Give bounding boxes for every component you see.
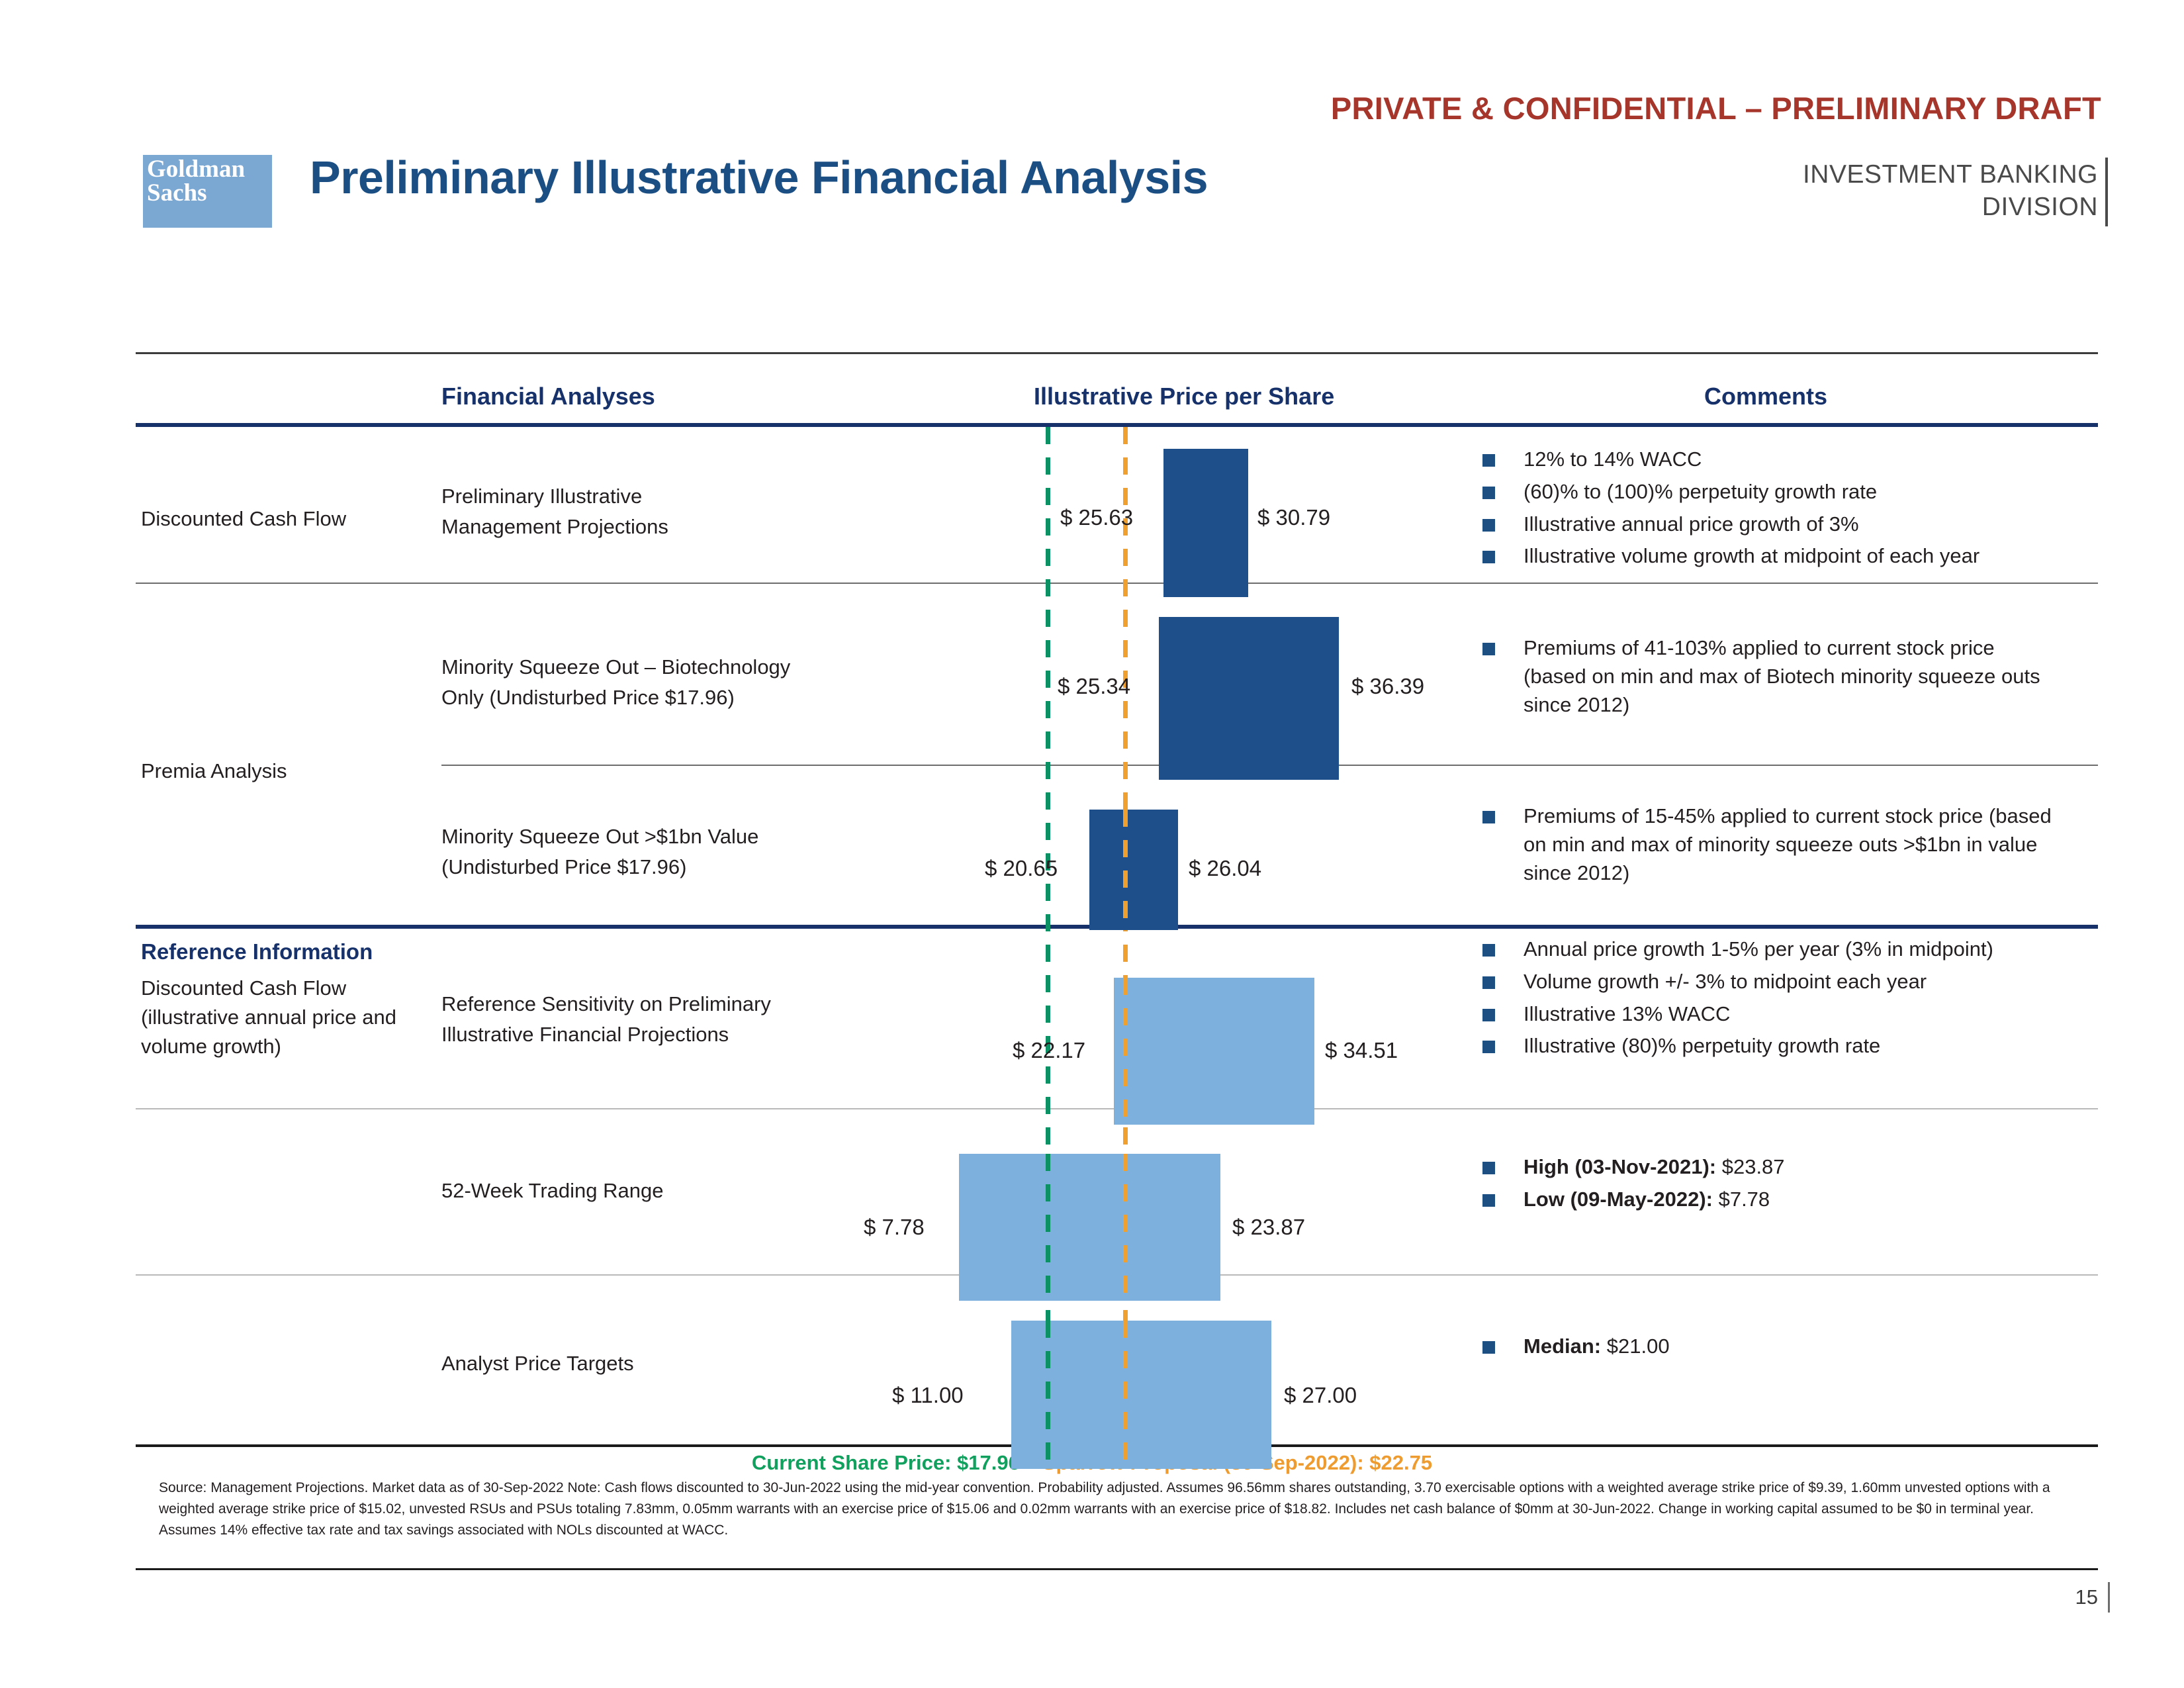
comment-item: 12% to 14% WACC [1482, 445, 2085, 474]
bullet-square-icon [1482, 1162, 1495, 1174]
value-high-row-2: $ 26.04 [1189, 856, 1261, 881]
division-label: INVESTMENT BANKING DIVISION [1803, 159, 2098, 224]
comment-text: (60)% to (100)% perpetuity growth rate [1524, 480, 1877, 503]
comment-item: Median: $21.00 [1482, 1333, 2071, 1361]
goldman-sachs-logo: Goldman Sachs [143, 155, 272, 228]
comment-label: Median: [1524, 1335, 1601, 1358]
comment-label: Low (09-May-2022): [1524, 1188, 1713, 1211]
column-header-financial-analyses: Financial Analyses [441, 383, 655, 410]
page-title: Preliminary Illustrative Financial Analy… [310, 151, 1208, 204]
comment-value: $7.78 [1713, 1188, 1770, 1211]
column-header-illustrative-price: Illustrative Price per Share [1034, 383, 1334, 410]
bullet-square-icon [1482, 643, 1495, 655]
bullet-square-icon [1482, 1194, 1495, 1207]
current-price-line-overlay-row-4 [1046, 1154, 1050, 1299]
bullet-square-icon [1482, 1009, 1495, 1021]
comment-text: Volume growth +/- 3% to midpoint each ye… [1524, 970, 1927, 993]
proposal-line-overlay-row-3 [1123, 978, 1128, 1123]
comment-text: Annual price growth 1-5% per year (3% in… [1524, 937, 1993, 961]
value-low-row-0: $ 25.63 [1060, 505, 1133, 530]
page-number: 15 [2075, 1585, 2098, 1609]
value-low-row-4: $ 7.78 [864, 1215, 925, 1240]
value-high-row-3: $ 34.51 [1325, 1038, 1398, 1063]
comment-item: Volume growth +/- 3% to midpoint each ye… [1482, 968, 2058, 996]
comment-item: Annual price growth 1-5% per year (3% in… [1482, 935, 2058, 964]
division-rule [2105, 158, 2108, 226]
comment-item: Illustrative annual price growth of 3% [1482, 510, 2085, 539]
comments-row-2: Premiums of 15-45% applied to current st… [1482, 802, 2071, 891]
proposal-line-overlay-row-5 [1123, 1321, 1128, 1468]
current-price-line-overlay-row-5 [1046, 1321, 1050, 1468]
bar-row-0 [1163, 449, 1248, 597]
logo-line-1: Goldman [147, 156, 245, 183]
comments-row-1: Premiums of 41-103% applied to current s… [1482, 634, 2042, 723]
bullet-square-icon [1482, 811, 1495, 823]
comments-row-4: High (03-Nov-2021): $23.87 Low (09-May-2… [1482, 1153, 2071, 1218]
comment-item: Illustrative (80)% perpetuity growth rat… [1482, 1032, 2058, 1060]
bullet-square-icon [1482, 551, 1495, 563]
comments-row-5: Median: $21.00 [1482, 1333, 2071, 1365]
proposal-line-overlay-row-2 [1123, 810, 1128, 929]
logo-line-2: Sachs [147, 181, 272, 205]
source-footnote: Source: Management Projections. Market d… [159, 1477, 2071, 1541]
comments-row-3: Annual price growth 1-5% per year (3% in… [1482, 935, 2058, 1064]
comment-label: High (03-Nov-2021): [1524, 1155, 1716, 1178]
comment-item: Low (09-May-2022): $7.78 [1482, 1186, 2071, 1214]
comment-text: Illustrative volume growth at midpoint o… [1524, 544, 1979, 567]
comment-text: 12% to 14% WACC [1524, 447, 1702, 471]
bullet-square-icon [1482, 454, 1495, 467]
slide: PRIVATE & CONFIDENTIAL – PRELIMINARY DRA… [0, 0, 2184, 1688]
comments-row-0: 12% to 14% WACC (60)% to (100)% perpetui… [1482, 445, 2085, 575]
division-line-2: DIVISION [1803, 191, 2098, 224]
bullet-square-icon [1482, 944, 1495, 957]
comment-text: Illustrative (80)% perpetuity growth rat… [1524, 1034, 1880, 1057]
bullet-square-icon [1482, 976, 1495, 989]
comment-text: Premiums of 41-103% applied to current s… [1524, 636, 2040, 716]
footer-rule [136, 1568, 2098, 1570]
bar-row-2 [1089, 810, 1178, 930]
comment-item: Illustrative volume growth at midpoint o… [1482, 542, 2085, 571]
comment-item: Illustrative 13% WACC [1482, 1000, 2058, 1029]
comment-item: Premiums of 41-103% applied to current s… [1482, 634, 2042, 719]
value-low-row-1: $ 25.34 [1058, 674, 1130, 699]
comment-value: $21.00 [1601, 1335, 1669, 1358]
value-high-row-4: $ 23.87 [1232, 1215, 1305, 1240]
legend-current-share-price: Current Share Price: $17.96 [752, 1451, 1020, 1474]
comment-text: Premiums of 15-45% applied to current st… [1524, 804, 2052, 884]
column-header-comments: Comments [1704, 383, 1827, 410]
value-high-row-1: $ 36.39 [1351, 674, 1424, 699]
division-line-1: INVESTMENT BANKING [1803, 159, 2098, 191]
bar-row-1 [1159, 617, 1339, 780]
comment-text: Illustrative annual price growth of 3% [1524, 512, 1859, 536]
bullet-square-icon [1482, 519, 1495, 532]
page-number-rule [2108, 1582, 2110, 1613]
value-low-row-3: $ 22.17 [1013, 1038, 1085, 1063]
table-top-rule [136, 352, 2098, 354]
bullet-square-icon [1482, 1041, 1495, 1053]
comment-item: Premiums of 15-45% applied to current st… [1482, 802, 2071, 887]
bar-row-3 [1114, 978, 1314, 1125]
bullet-square-icon [1482, 487, 1495, 499]
comment-text: Illustrative 13% WACC [1524, 1002, 1730, 1025]
comment-item: (60)% to (100)% perpetuity growth rate [1482, 478, 2085, 506]
value-high-row-0: $ 30.79 [1257, 505, 1330, 530]
value-low-row-2: $ 20.65 [985, 856, 1058, 881]
value-high-row-5: $ 27.00 [1284, 1383, 1357, 1408]
proposal-line-overlay-row-4 [1123, 1154, 1128, 1299]
value-low-row-5: $ 11.00 [892, 1383, 964, 1408]
comment-item: High (03-Nov-2021): $23.87 [1482, 1153, 2071, 1182]
bar-row-4 [959, 1154, 1220, 1301]
bullet-square-icon [1482, 1341, 1495, 1354]
confidentiality-banner: PRIVATE & CONFIDENTIAL – PRELIMINARY DRA… [0, 90, 2101, 126]
comment-value: $23.87 [1716, 1155, 1784, 1178]
